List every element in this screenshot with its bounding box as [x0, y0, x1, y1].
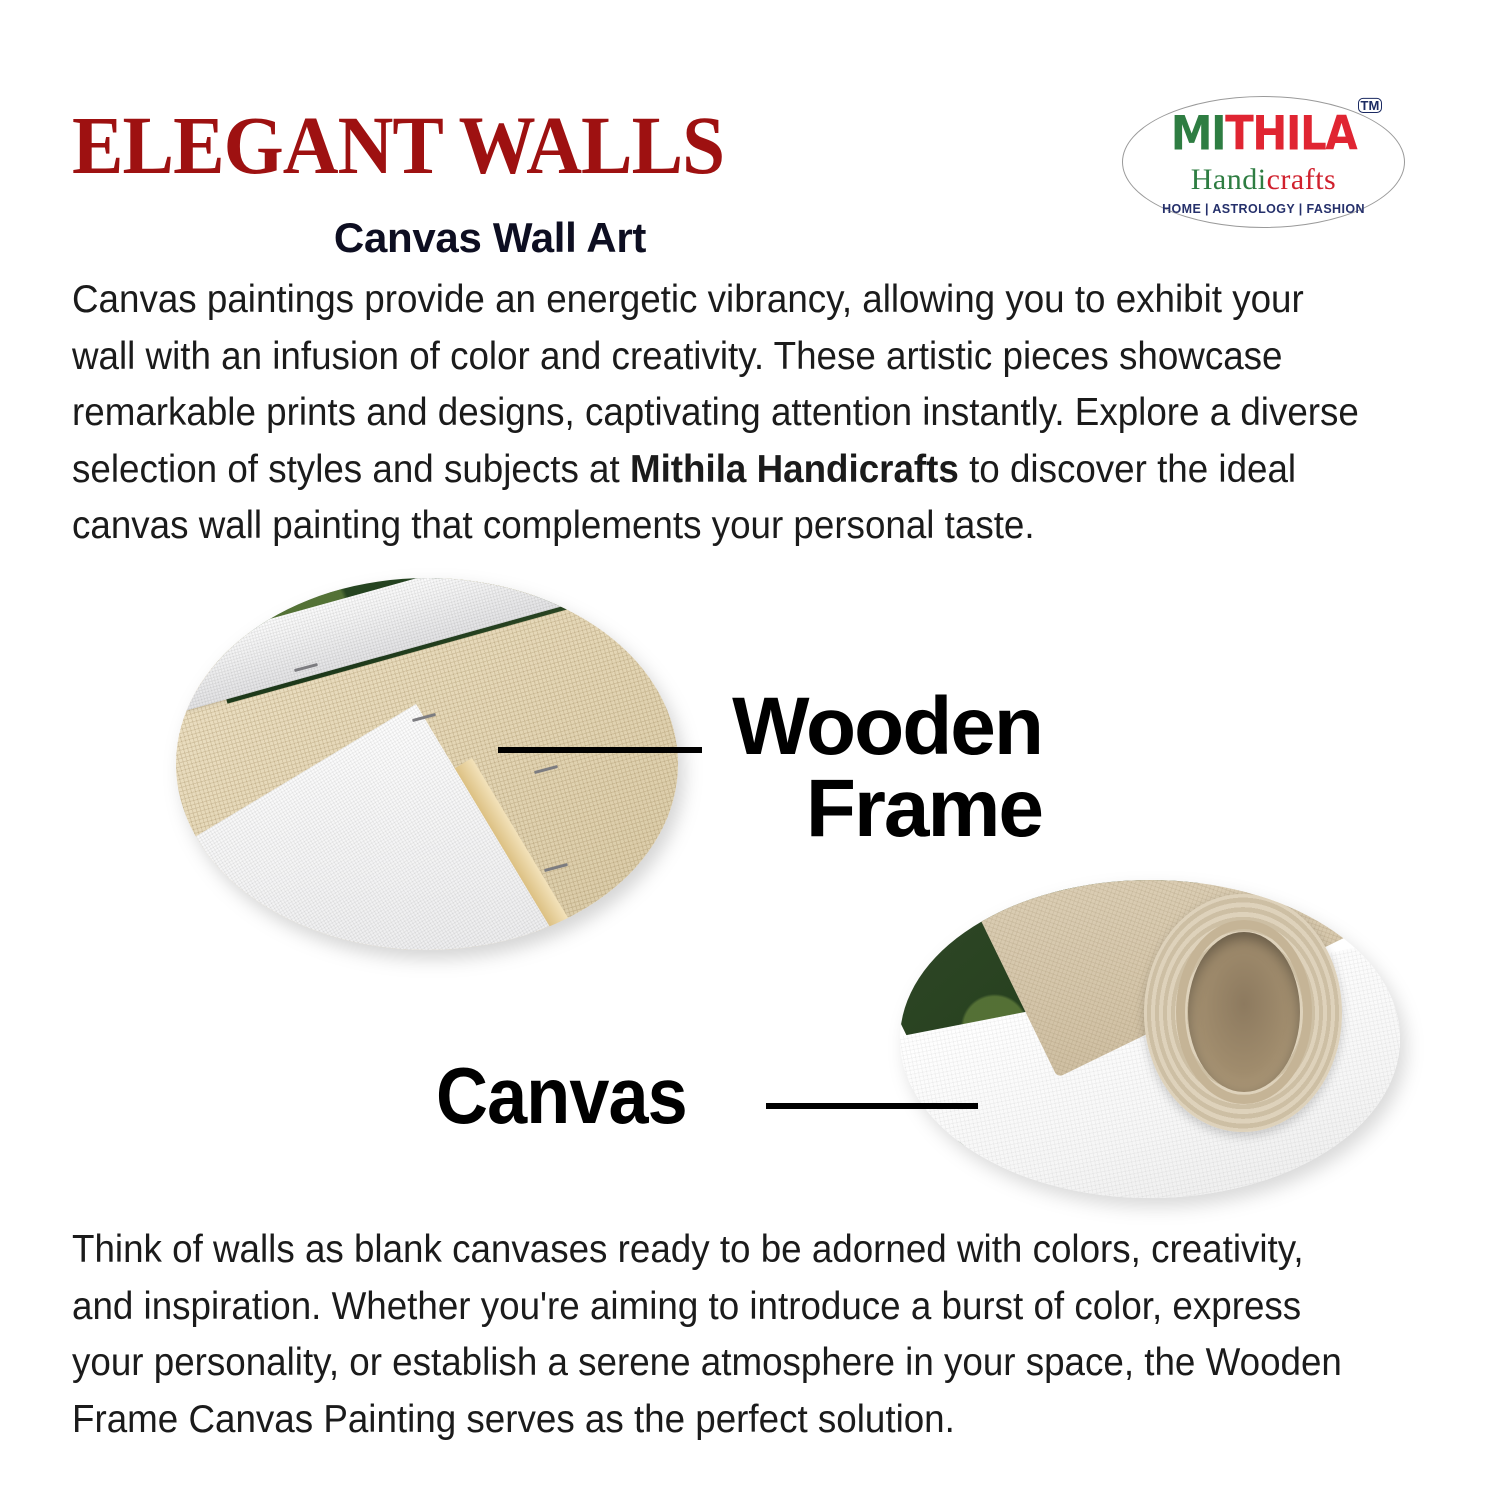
- page-subtitle: Canvas Wall Art: [0, 214, 1500, 262]
- logo-wordmark: MITHILA TM: [1171, 110, 1357, 157]
- logo-subtext-part1: Handi: [1191, 163, 1267, 196]
- wooden-frame-photo: [176, 578, 678, 950]
- page-title: ELEGANT WALLS: [72, 104, 724, 187]
- canvas-leader-line: [766, 1103, 978, 1109]
- canvas-roll-photo: [900, 880, 1400, 1198]
- cardboard-tube-lip: [1176, 920, 1312, 1104]
- intro-paragraph: Canvas paintings provide an energetic vi…: [72, 272, 1369, 555]
- canvas-callout-label: Canvas: [436, 1056, 687, 1136]
- logo-wordmark-part2: THILA: [1225, 105, 1356, 160]
- logo-wordmark-part1: MI: [1171, 105, 1225, 160]
- logo-subtext: Handicrafts: [1191, 165, 1336, 195]
- wooden-frame-leader-line: [498, 747, 702, 753]
- logo-subtext-part2: crafts: [1267, 163, 1337, 196]
- brand-mention: Mithila Handicrafts: [630, 448, 959, 491]
- brand-logo: MITHILA TM Handicrafts HOME | ASTROLOGY …: [1122, 96, 1405, 228]
- trademark-icon: TM: [1358, 97, 1383, 112]
- wooden-frame-callout-label: Wooden Frame: [700, 686, 1042, 850]
- closing-paragraph: Think of walls as blank canvases ready t…: [72, 1222, 1369, 1448]
